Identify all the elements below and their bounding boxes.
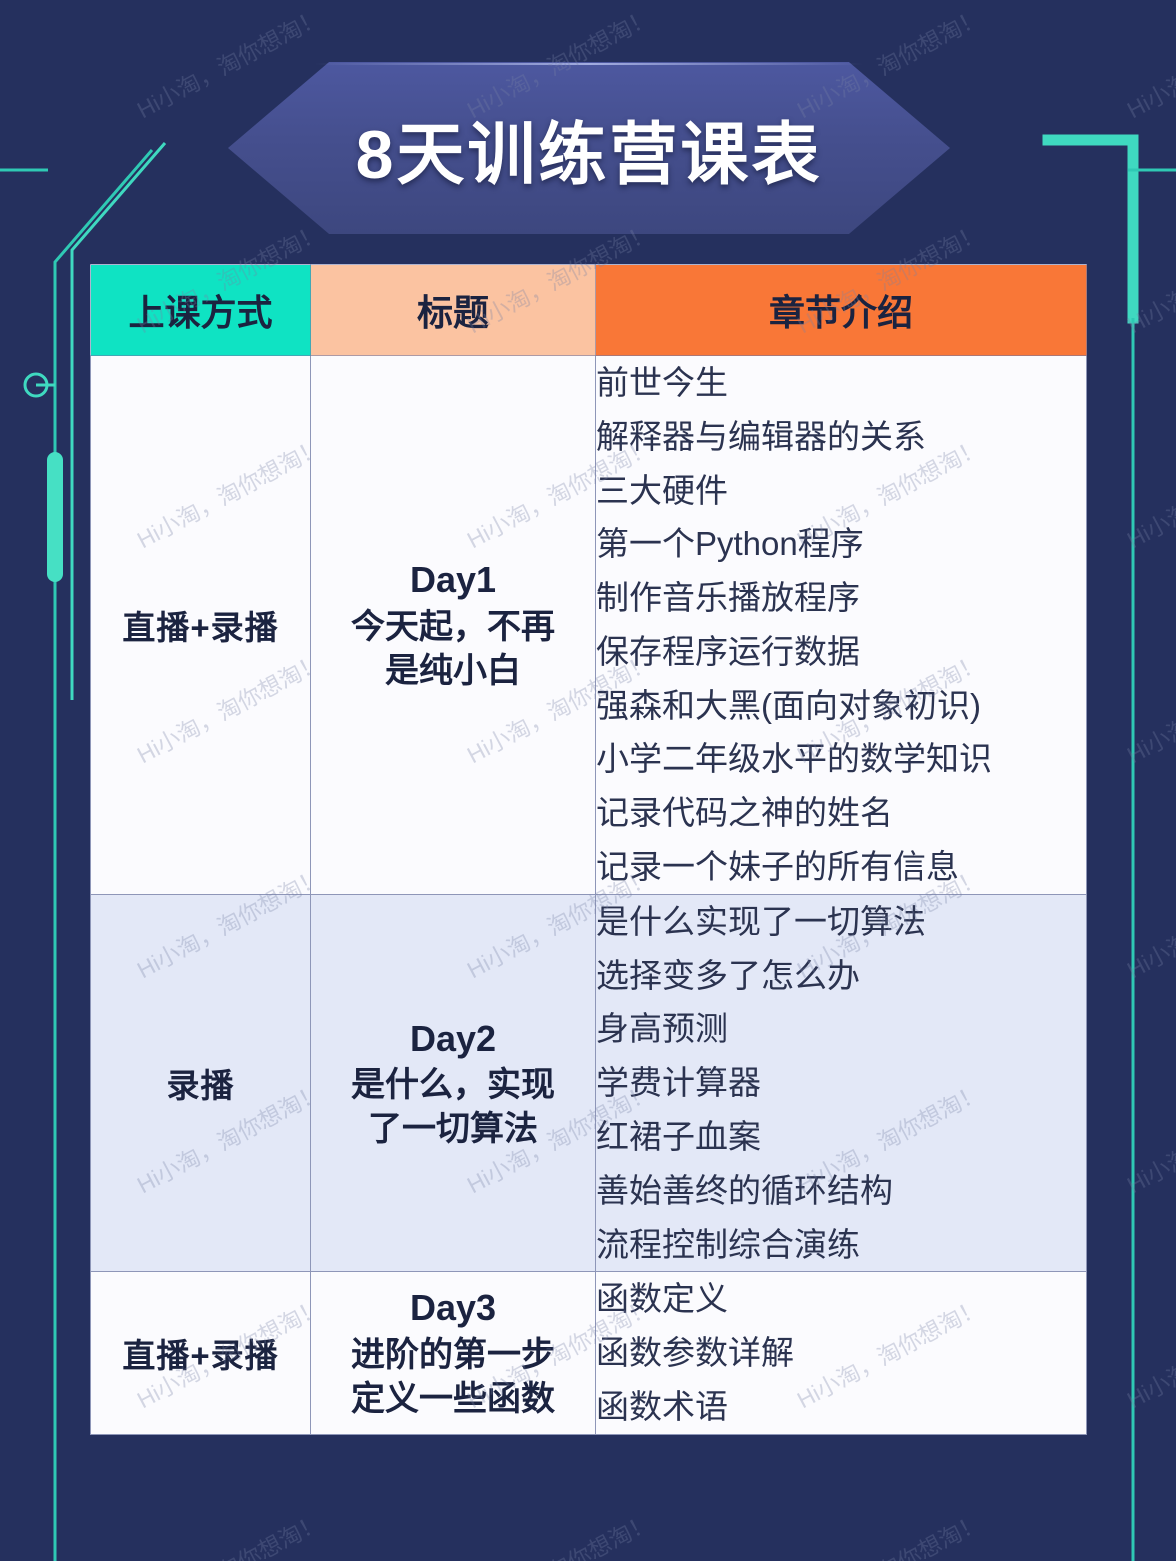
- schedule-table: 上课方式 标题 章节介绍 直播+录播 Day1 今天起，不再 是纯小白 前世今生…: [90, 264, 1087, 1435]
- cell-mode: 直播+录播: [91, 1272, 311, 1434]
- chapter-item: 解释器与编辑器的关系: [596, 410, 1086, 464]
- chapter-item: 函数参数详解: [596, 1326, 1086, 1380]
- watermark-text: Hi小淘，淘你想淘！: [1120, 1503, 1176, 1561]
- chapter-item: 善始善终的循环结构: [596, 1164, 1086, 1218]
- day-label: Day2: [311, 1015, 595, 1064]
- table-row: 录播 Day2 是什么，实现 了一切算法 是什么实现了一切算法 选择变多了怎么办…: [91, 894, 1087, 1271]
- column-header-intro: 章节介绍: [596, 265, 1087, 356]
- cell-chapters: 前世今生 解释器与编辑器的关系 三大硬件 第一个Python程序 制作音乐播放程…: [596, 356, 1087, 895]
- watermark-text: Hi小淘，淘你想淘！: [1120, 1073, 1176, 1200]
- watermark-text: Hi小淘，淘你想淘！: [1120, 213, 1176, 340]
- cell-chapters: 是什么实现了一切算法 选择变多了怎么办 身高预测 学费计算器 红裙子血案 善始善…: [596, 894, 1087, 1271]
- day-subtitle-line1: 今天起，不再: [311, 605, 595, 649]
- cell-mode: 录播: [91, 894, 311, 1271]
- chapter-item: 流程控制综合演练: [596, 1218, 1086, 1272]
- day-subtitle-line2: 定义一些函数: [311, 1377, 595, 1421]
- watermark-text: Hi小淘，淘你想淘！: [130, 1503, 328, 1561]
- cell-mode: 直播+录播: [91, 356, 311, 895]
- chapter-item: 选择变多了怎么办: [596, 949, 1086, 1003]
- watermark-text: Hi小淘，淘你想淘！: [1120, 858, 1176, 985]
- watermark-text: Hi小淘，淘你想淘！: [790, 1503, 988, 1561]
- chapter-item: 身高预测: [596, 1002, 1086, 1056]
- watermark-text: Hi小淘，淘你想淘！: [1120, 1288, 1176, 1415]
- chapter-item: 保存程序运行数据: [596, 625, 1086, 679]
- chapter-item: 函数术语: [596, 1380, 1086, 1434]
- watermark-text: Hi小淘，淘你想淘！: [1120, 428, 1176, 555]
- watermark-text: Hi小淘，淘你想淘！: [1120, 0, 1176, 125]
- day-label: Day1: [311, 556, 595, 605]
- watermark-text: Hi小淘，淘你想淘！: [460, 1503, 658, 1561]
- chapter-item: 前世今生: [596, 356, 1086, 410]
- chapter-item: 学费计算器: [596, 1056, 1086, 1110]
- chapter-item: 强森和大黑(面向对象初识): [596, 679, 1086, 733]
- table-header-row: 上课方式 标题 章节介绍: [91, 265, 1087, 356]
- day-subtitle-line2: 了一切算法: [311, 1107, 595, 1151]
- column-header-title: 标题: [311, 265, 596, 356]
- table-row: 直播+录播 Day3 进阶的第一步 定义一些函数 函数定义 函数参数详解 函数术…: [91, 1272, 1087, 1434]
- day-subtitle-line2: 是纯小白: [311, 649, 595, 693]
- chapter-item: 三大硬件: [596, 464, 1086, 518]
- title-banner: 8天训练营课表: [228, 62, 950, 234]
- cell-chapters: 函数定义 函数参数详解 函数术语: [596, 1272, 1087, 1434]
- chapter-item: 第一个Python程序: [596, 517, 1086, 571]
- watermark-text: Hi小淘，淘你想淘！: [1120, 643, 1176, 770]
- day-subtitle-line1: 是什么，实现: [311, 1063, 595, 1107]
- chapter-item: 红裙子血案: [596, 1110, 1086, 1164]
- chapter-item: 记录代码之神的姓名: [596, 786, 1086, 840]
- cell-title: Day1 今天起，不再 是纯小白: [311, 356, 596, 895]
- chapter-item: 记录一个妹子的所有信息: [596, 840, 1086, 894]
- column-header-mode: 上课方式: [91, 265, 311, 356]
- cell-title: Day3 进阶的第一步 定义一些函数: [311, 1272, 596, 1434]
- table-row: 直播+录播 Day1 今天起，不再 是纯小白 前世今生 解释器与编辑器的关系 三…: [91, 356, 1087, 895]
- day-label: Day3: [311, 1284, 595, 1333]
- cell-title: Day2 是什么，实现 了一切算法: [311, 894, 596, 1271]
- chapter-item: 制作音乐播放程序: [596, 571, 1086, 625]
- chapter-item: 是什么实现了一切算法: [596, 895, 1086, 949]
- page-title: 8天训练营课表: [228, 62, 950, 234]
- day-subtitle-line1: 进阶的第一步: [311, 1333, 595, 1377]
- chapter-item: 函数定义: [596, 1272, 1086, 1326]
- chapter-item: 小学二年级水平的数学知识: [596, 732, 1086, 786]
